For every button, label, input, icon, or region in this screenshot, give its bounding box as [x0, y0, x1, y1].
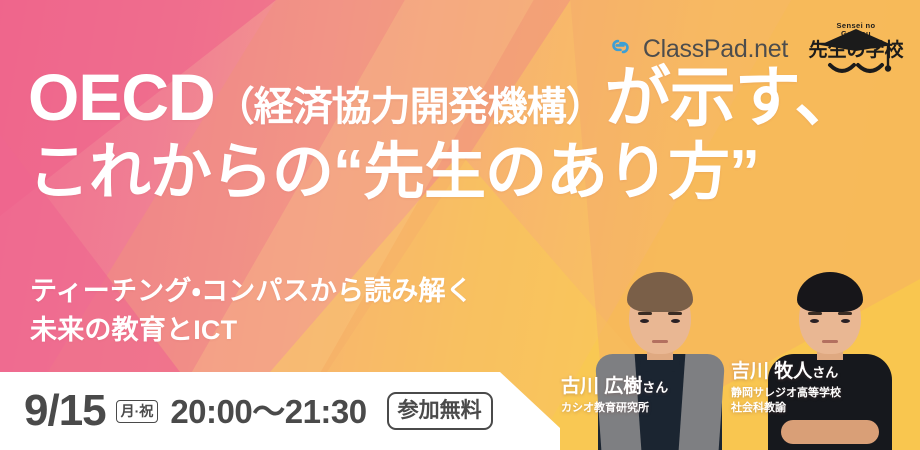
speaker-2-eye-left — [810, 319, 819, 323]
classpad-logo[interactable]: ClassPad.net — [607, 33, 788, 65]
speaker-1: 古川 広樹さん カシオ教育研究所 — [577, 265, 742, 450]
event-day-badge: 月·祝 — [116, 400, 159, 423]
speaker-2-honorific: さん — [812, 365, 838, 380]
subtitle: ティーチング・コンパスから読み解く 未来の教育とICT — [30, 272, 473, 350]
event-date: 9/15 — [24, 389, 106, 433]
date-card: 9/15 月·祝 20:00〜21:30 参加無料 — [0, 372, 560, 450]
speakers: 古川 広樹さん カシオ教育研究所 — [570, 250, 920, 450]
speaker-2-crossed-arms — [781, 420, 879, 444]
speaker-1-eye-right — [671, 319, 680, 323]
speaker-2-photo — [766, 270, 894, 450]
headline-line2-text: これからの“先生のあり方” — [28, 142, 759, 204]
webinar-banner: ClassPad.net Sensei no Gakkou 先生の学校 OEC — [0, 0, 920, 450]
event-time: 20:00〜21:30 — [170, 395, 366, 428]
speaker-1-brow-right — [668, 312, 682, 315]
speaker-2-name: 吉川 牧人 — [731, 361, 812, 382]
headline-line-2: これからの“先生のあり方” — [28, 142, 859, 204]
free-entry-badge: 参加無料 — [387, 392, 493, 430]
headline: OECD （経済協力開発機構） が示す、 これからの“先生のあり方” — [28, 64, 859, 204]
speaker-1-hair — [627, 272, 693, 312]
classpad-wordmark: ClassPad.net — [643, 35, 788, 64]
speaker-2-mouth — [822, 340, 838, 343]
speaker-1-name-row: 古川 広樹さん — [561, 377, 668, 398]
speaker-1-mouth — [652, 340, 668, 343]
speaker-2-org-line1: 静岡サレジオ高等学校 — [731, 386, 841, 401]
speaker-1-caption: 古川 広樹さん カシオ教育研究所 — [561, 377, 668, 416]
speaker-2-caption: 吉川 牧人さん 静岡サレジオ高等学校 社会科教諭 — [731, 362, 841, 416]
sensei-no-gakkou-logo[interactable]: Sensei no Gakkou 先生の学校 — [810, 21, 902, 77]
subtitle-line-1: ティーチング・コンパスから読み解く — [30, 272, 473, 311]
speaker-2: 吉川 牧人さん 静岡サレジオ高等学校 社会科教諭 — [747, 265, 912, 450]
speaker-2-brow-right — [838, 312, 852, 315]
speaker-2-name-row: 吉川 牧人さん — [731, 362, 841, 383]
logo-row: ClassPad.net Sensei no Gakkou 先生の学校 — [607, 21, 902, 77]
speaker-1-eye-left — [640, 319, 649, 323]
speaker-2-hair — [797, 272, 863, 312]
speaker-2-eye-right — [841, 319, 850, 323]
speaker-1-honorific: さん — [642, 380, 668, 395]
subtitle-line-2: 未来の教育とICT — [30, 311, 473, 350]
headline-oecd: OECD — [28, 64, 215, 130]
speaker-1-brow-left — [638, 312, 652, 315]
speaker-1-jacket-right — [678, 354, 725, 450]
graduation-cap-icon — [810, 21, 902, 82]
link-chain-icon — [607, 33, 634, 65]
speaker-1-org-line1: カシオ教育研究所 — [561, 401, 668, 416]
headline-parenthetical: （経済協力開発機構） — [215, 87, 605, 127]
speaker-1-photo — [596, 270, 724, 450]
speaker-2-org-line2: 社会科教諭 — [731, 401, 841, 416]
speaker-1-name: 古川 広樹 — [561, 376, 642, 397]
speaker-2-brow-left — [808, 312, 822, 315]
